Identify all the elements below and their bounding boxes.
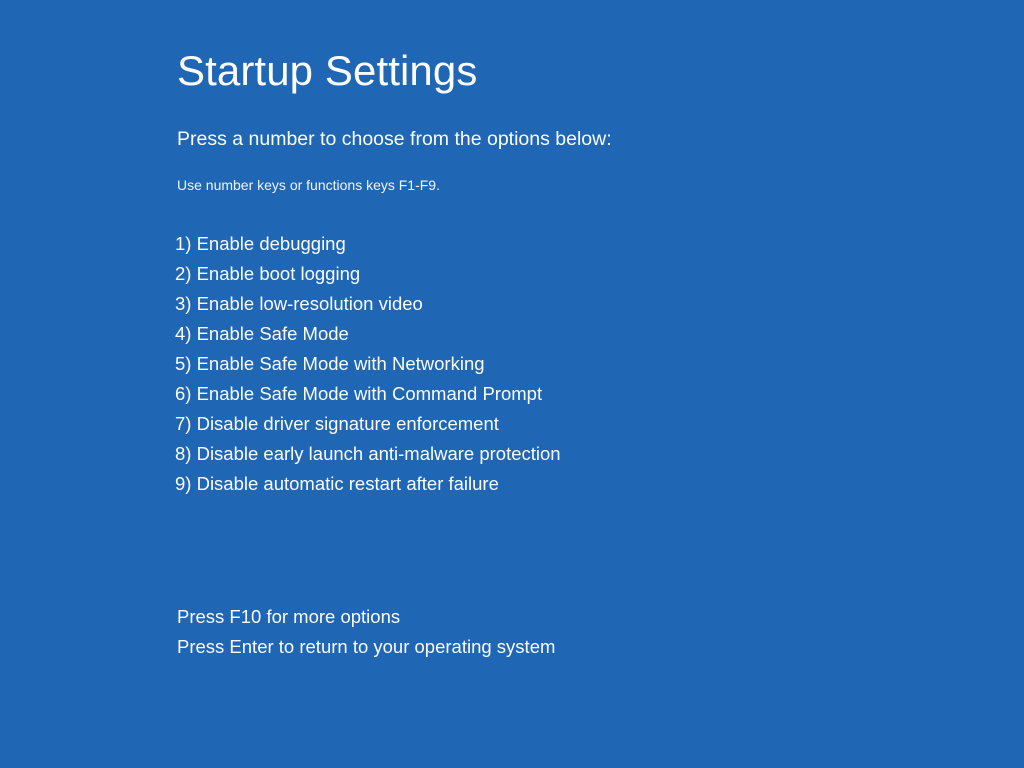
startup-settings-screen: Startup Settings Press a number to choos… (0, 0, 1024, 768)
startup-option-7[interactable]: 7) Disable driver signature enforcement (175, 409, 997, 439)
footer-actions: Press F10 for more options Press Enter t… (177, 499, 997, 662)
startup-option-1[interactable]: 1) Enable debugging (175, 229, 997, 259)
startup-option-3[interactable]: 3) Enable low-resolution video (175, 289, 997, 319)
startup-option-9[interactable]: 9) Disable automatic restart after failu… (175, 469, 997, 499)
startup-options-list: 1) Enable debugging 2) Enable boot loggi… (177, 192, 997, 499)
page-subtitle: Press a number to choose from the option… (177, 92, 997, 150)
content-container: Startup Settings Press a number to choos… (177, 0, 997, 662)
page-title: Startup Settings (177, 0, 997, 92)
input-hint-text: Use number keys or functions keys F1-F9. (177, 150, 997, 192)
startup-option-5[interactable]: 5) Enable Safe Mode with Networking (175, 349, 997, 379)
startup-option-8[interactable]: 8) Disable early launch anti-malware pro… (175, 439, 997, 469)
return-to-os-action[interactable]: Press Enter to return to your operating … (177, 632, 997, 662)
startup-option-4[interactable]: 4) Enable Safe Mode (175, 319, 997, 349)
startup-option-2[interactable]: 2) Enable boot logging (175, 259, 997, 289)
startup-option-6[interactable]: 6) Enable Safe Mode with Command Prompt (175, 379, 997, 409)
more-options-action[interactable]: Press F10 for more options (177, 602, 997, 632)
